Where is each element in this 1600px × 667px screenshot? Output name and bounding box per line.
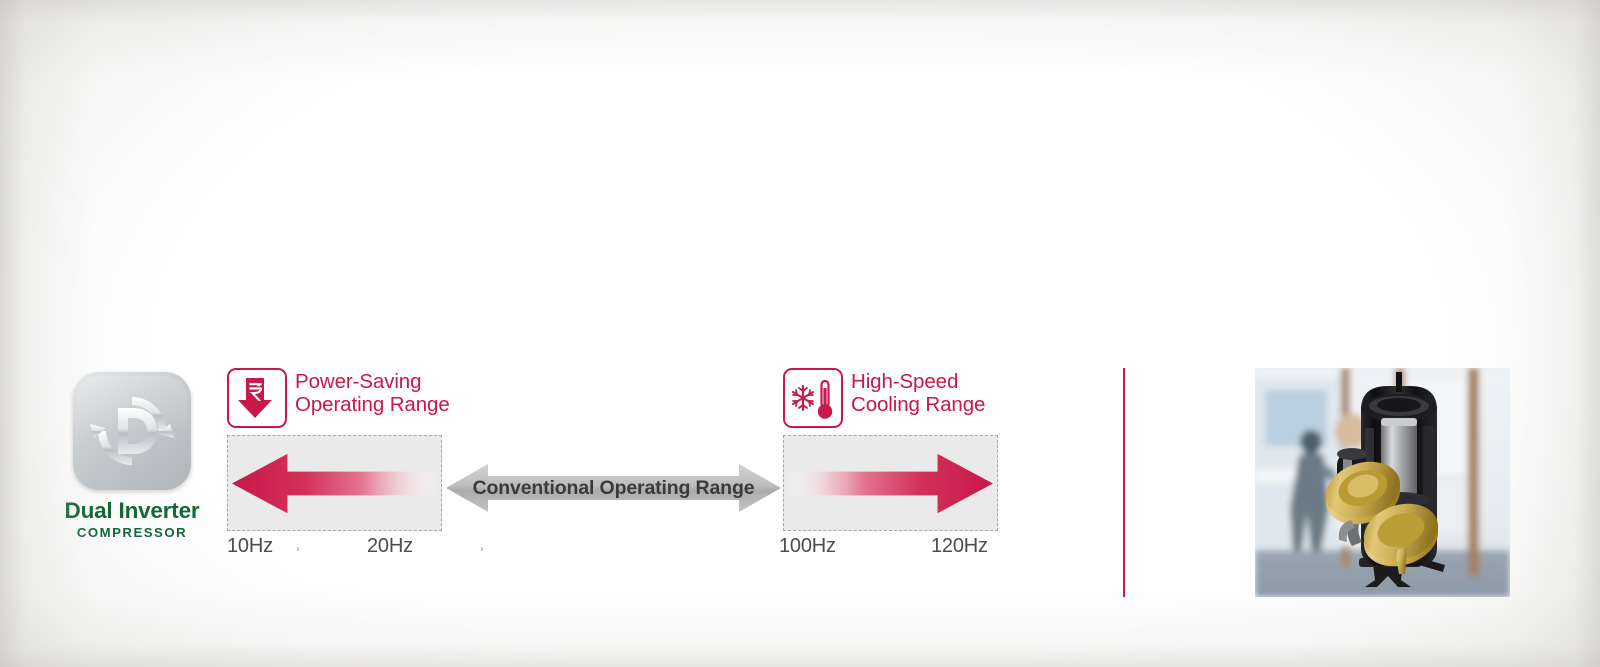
high-speed-cooling-label: High-Speed Cooling Range — [851, 368, 985, 417]
power-saving-label: Power-Saving Operating Range — [295, 368, 450, 417]
power-saving-range-bar — [227, 435, 442, 531]
dual-inverter-subtitle: COMPRESSOR — [58, 525, 206, 540]
conventional-range-label: Conventional Operating Range — [446, 457, 781, 519]
compressor-illustration — [1255, 368, 1510, 597]
tick-label-120hz: 120Hz — [931, 535, 988, 558]
infographic-canvas: Dual Inverter COMPRESSOR Power-Saving Op… — [0, 0, 1600, 667]
dual-inverter-logo — [73, 372, 191, 490]
tick-label-20hz: 20Hz — [367, 535, 413, 558]
high-speed-cooling-header: High-Speed Cooling Range — [783, 368, 998, 426]
compressor-product-photo — [1255, 368, 1510, 597]
high-speed-cooling-ticks: 100Hz 120Hz — [783, 535, 998, 565]
conventional-operating-range: Conventional Operating Range — [446, 457, 781, 519]
dual-arrows-d-icon — [73, 372, 191, 490]
rupee-down-arrow-icon — [227, 368, 287, 428]
high-speed-cooling-range-bar — [783, 435, 998, 531]
tick-mark — [297, 547, 299, 551]
tick-mark — [481, 547, 483, 551]
dual-inverter-title: Dual Inverter — [58, 499, 206, 523]
snowflake-thermometer-icon — [783, 368, 843, 428]
dual-inverter-badge: Dual Inverter COMPRESSOR — [58, 372, 206, 540]
power-saving-ticks: 10Hz 20Hz — [227, 535, 450, 565]
tick-label-10hz: 10Hz — [227, 535, 273, 558]
tick-label-100hz: 100Hz — [779, 535, 836, 558]
high-speed-cooling-range-block: High-Speed Cooling Range 100Hz 120Hz — [783, 368, 998, 565]
power-saving-range-block: Power-Saving Operating Range 10Hz — [227, 368, 450, 565]
power-saving-header: Power-Saving Operating Range — [227, 368, 450, 426]
vertical-divider — [1123, 368, 1125, 597]
